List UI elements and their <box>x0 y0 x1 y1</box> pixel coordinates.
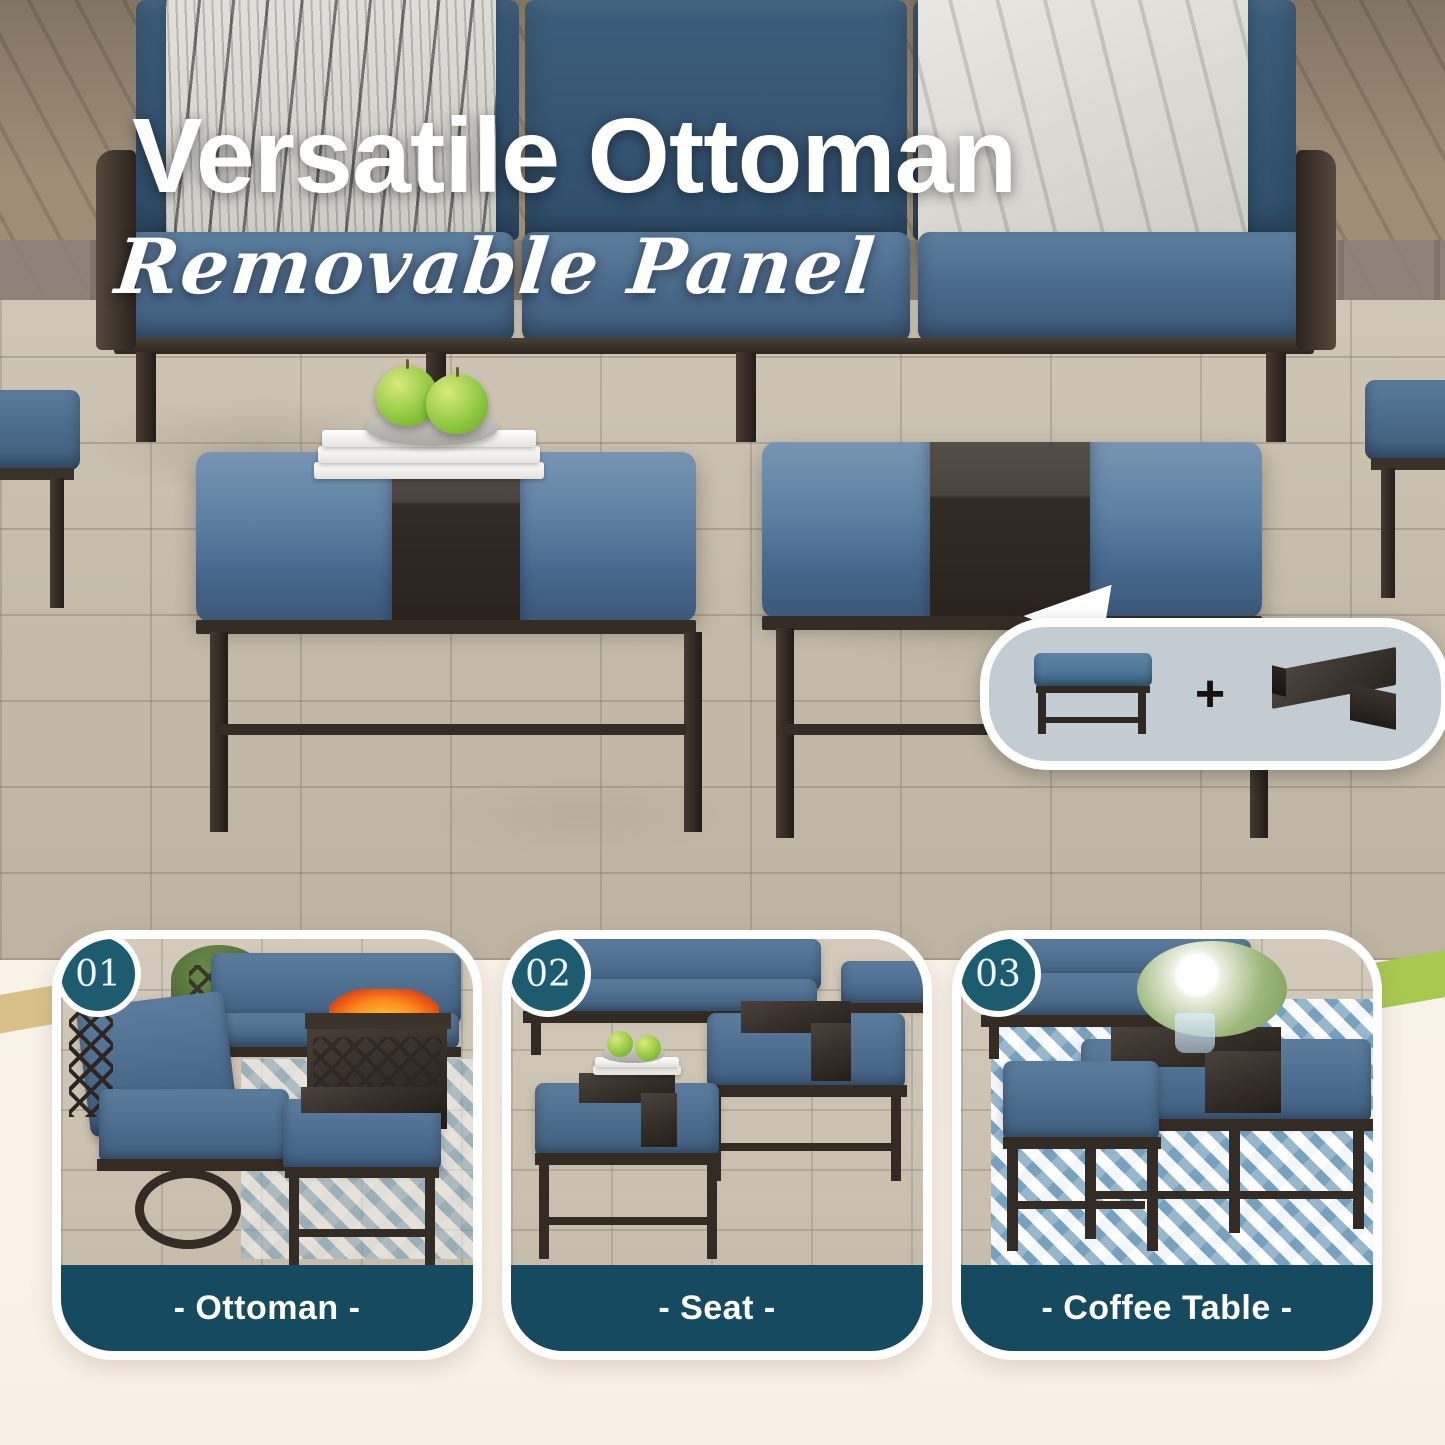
decor-books <box>314 428 544 480</box>
card-label-coffee-table: - Coffee Table - <box>961 1265 1373 1351</box>
ottoman-left <box>196 452 716 852</box>
side-chair-right <box>1365 380 1445 630</box>
sofa-leg <box>1266 352 1286 442</box>
ottoman-thumbnail-icon <box>1022 653 1162 735</box>
page-title: Versatile Ottoman <box>132 96 1016 217</box>
card-label-seat: - Seat - <box>511 1265 923 1351</box>
hero-photo: Versatile Ottoman Removable Panel + <box>0 0 1445 960</box>
side-chair-left <box>0 390 80 640</box>
panel-thumbnail-icon <box>1258 653 1408 735</box>
feature-cards-section: 01 - Ottoman - <box>0 960 1445 1445</box>
card-label-ottoman: - Ottoman - <box>61 1265 473 1351</box>
green-apple <box>426 374 488 434</box>
sofa-arm-right <box>1296 150 1336 350</box>
sofa-leg <box>136 352 156 442</box>
feature-card-coffee-table[interactable]: 03 - Coffee Table - <box>952 930 1382 1360</box>
product-infographic: Versatile Ottoman Removable Panel + <box>0 0 1445 1445</box>
page-subtitle: Removable Panel <box>111 222 880 311</box>
plus-icon: + <box>1195 668 1225 720</box>
sofa-leg <box>736 352 756 442</box>
sofa-frame <box>114 338 1314 354</box>
callout-bubble: + <box>980 618 1445 770</box>
feature-card-ottoman[interactable]: 01 - Ottoman - <box>52 930 482 1360</box>
feature-card-seat[interactable]: 02 - Seat - <box>502 930 932 1360</box>
